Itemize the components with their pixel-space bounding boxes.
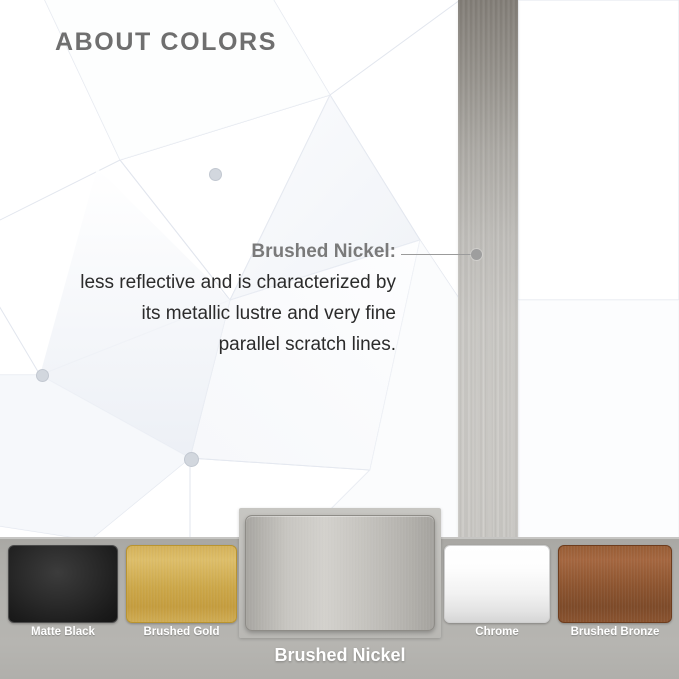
swatch-matte-black[interactable] bbox=[8, 545, 118, 623]
brushed-grain-texture bbox=[458, 0, 518, 538]
mesh-vertex-dot bbox=[36, 369, 49, 382]
swatch-brushed-nickel[interactable] bbox=[245, 515, 435, 631]
poster-canvas: ABOUT COLORS Brushed Nickel: less reflec… bbox=[0, 0, 679, 679]
swatch-label-matte-black: Matte Black bbox=[8, 626, 118, 638]
page-title: ABOUT COLORS bbox=[55, 28, 277, 57]
callout-leader-dot bbox=[471, 249, 482, 260]
swatch-brushed-gold[interactable] bbox=[126, 545, 237, 623]
callout-line-1: less reflective and is characterized by bbox=[0, 267, 400, 298]
mesh-vertex-dot bbox=[209, 168, 222, 181]
mesh-vertex-dot bbox=[184, 452, 199, 467]
brushed-nickel-sample-strip bbox=[458, 0, 518, 538]
callout-text-block: Brushed Nickel: less reflective and is c… bbox=[0, 236, 400, 360]
callout-label: Brushed Nickel: bbox=[0, 236, 400, 267]
callout-line-3: parallel scratch lines. bbox=[0, 329, 400, 360]
swatch-label-brushed-bronze: Brushed Bronze bbox=[558, 626, 672, 638]
swatch-brushed-bronze[interactable] bbox=[558, 545, 672, 623]
swatch-label-brushed-nickel: Brushed Nickel bbox=[239, 645, 441, 666]
callout-leader-line bbox=[401, 254, 475, 255]
swatch-label-chrome: Chrome bbox=[444, 626, 550, 638]
callout-line-2: its metallic lustre and very fine bbox=[0, 298, 400, 329]
swatch-label-brushed-gold: Brushed Gold bbox=[126, 626, 237, 638]
swatch-chrome[interactable] bbox=[444, 545, 550, 623]
